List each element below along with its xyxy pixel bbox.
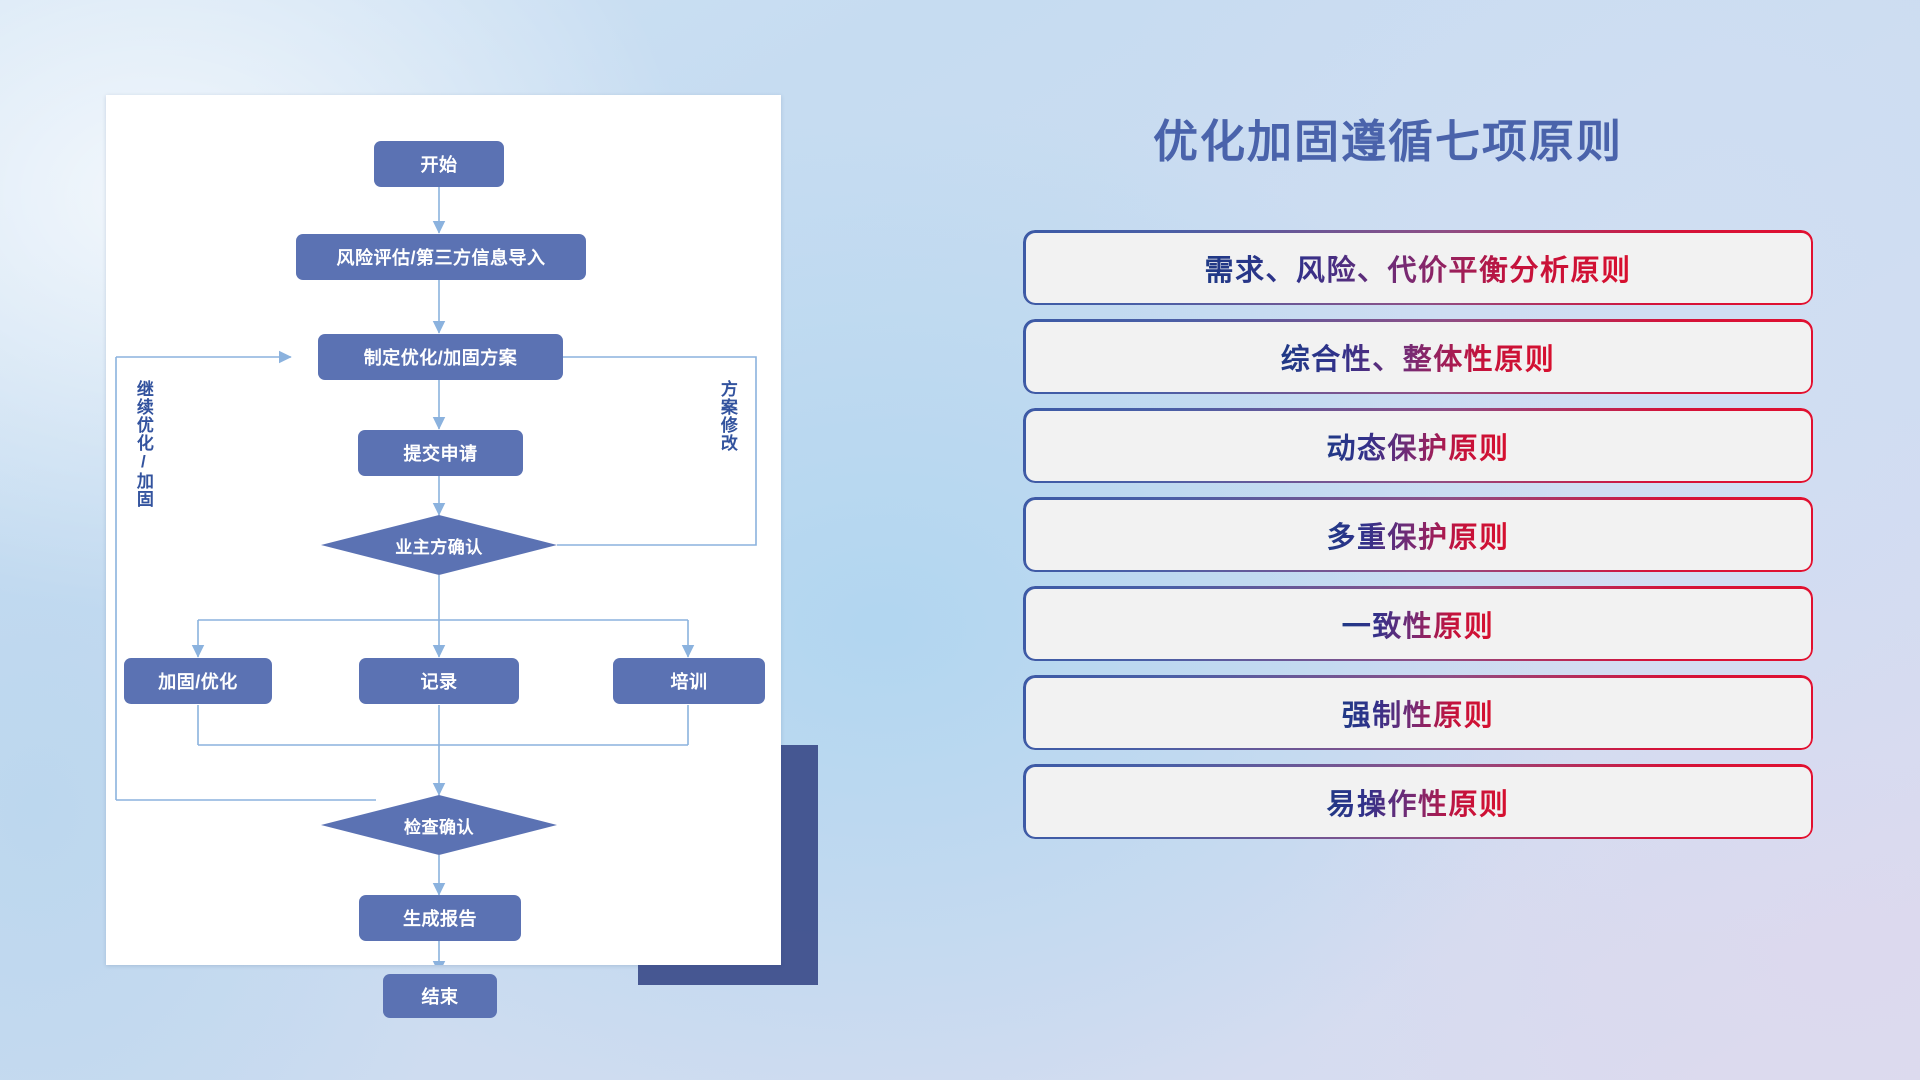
flow-decision-inspection[interactable]: 检查确认 — [321, 795, 557, 855]
principle-card-7[interactable]: 易操作性原则 — [1023, 764, 1813, 839]
flow-decision-inspection-label: 检查确认 — [321, 795, 557, 855]
principle-label: 一致性原则 — [1342, 603, 1495, 645]
flow-node-training-label: 培训 — [671, 668, 708, 694]
flow-node-risk-assessment-label: 风险评估/第三方信息导入 — [337, 244, 546, 270]
principle-card-4[interactable]: 多重保护原则 — [1023, 497, 1813, 572]
flow-node-submit[interactable]: 提交申请 — [358, 430, 523, 476]
flow-node-start[interactable]: 开始 — [374, 141, 504, 187]
flow-edge-label-right-loop: 方案修改 — [718, 380, 736, 515]
flow-node-end-label: 结束 — [422, 983, 459, 1009]
flow-node-report[interactable]: 生成报告 — [359, 895, 521, 941]
page-title: 优化加固遵循七项原则 — [1153, 105, 1623, 170]
principle-card-2[interactable]: 综合性、整体性原则 — [1023, 319, 1813, 394]
flow-node-start-label: 开始 — [421, 151, 458, 177]
flowchart-panel: 开始 风险评估/第三方信息导入 制定优化/加固方案 提交申请 业主方确认 加固/… — [106, 95, 781, 965]
principles-pane: 优化加固遵循七项原则 需求、风险、代价平衡分析原则 综合性、整体性原则 动态保护… — [1020, 0, 1920, 1080]
principle-label: 综合性、整体性原则 — [1281, 336, 1556, 378]
principle-label: 动态保护原则 — [1326, 425, 1509, 467]
principle-card-6[interactable]: 强制性原则 — [1023, 675, 1813, 750]
flow-node-reinforce-label: 加固/优化 — [158, 668, 238, 694]
flow-node-record[interactable]: 记录 — [359, 658, 519, 704]
principle-label: 多重保护原则 — [1326, 514, 1509, 556]
principle-card-5[interactable]: 一致性原则 — [1023, 586, 1813, 661]
flow-node-training[interactable]: 培训 — [613, 658, 765, 704]
flow-node-submit-label: 提交申请 — [404, 440, 478, 466]
flow-edge-label-left-loop: 继续优化/加固 — [134, 380, 152, 560]
flow-node-report-label: 生成报告 — [403, 905, 477, 931]
principle-label: 强制性原则 — [1342, 692, 1495, 734]
flow-decision-owner-confirm-label: 业主方确认 — [321, 515, 557, 575]
principle-label: 需求、风险、代价平衡分析原则 — [1204, 247, 1631, 289]
principle-card-1[interactable]: 需求、风险、代价平衡分析原则 — [1023, 230, 1813, 305]
flow-node-plan-label: 制定优化/加固方案 — [364, 344, 518, 370]
principle-label: 易操作性原则 — [1326, 781, 1509, 823]
principles-list: 需求、风险、代价平衡分析原则 综合性、整体性原则 动态保护原则 多重保护原则 一… — [1023, 230, 1813, 853]
flow-decision-owner-confirm[interactable]: 业主方确认 — [321, 515, 557, 575]
flow-node-reinforce[interactable]: 加固/优化 — [124, 658, 272, 704]
flow-node-end[interactable]: 结束 — [383, 974, 497, 1018]
principle-card-3[interactable]: 动态保护原则 — [1023, 408, 1813, 483]
flow-node-plan[interactable]: 制定优化/加固方案 — [318, 334, 563, 380]
flow-node-risk-assessment[interactable]: 风险评估/第三方信息导入 — [296, 234, 586, 280]
flow-node-record-label: 记录 — [421, 668, 458, 694]
